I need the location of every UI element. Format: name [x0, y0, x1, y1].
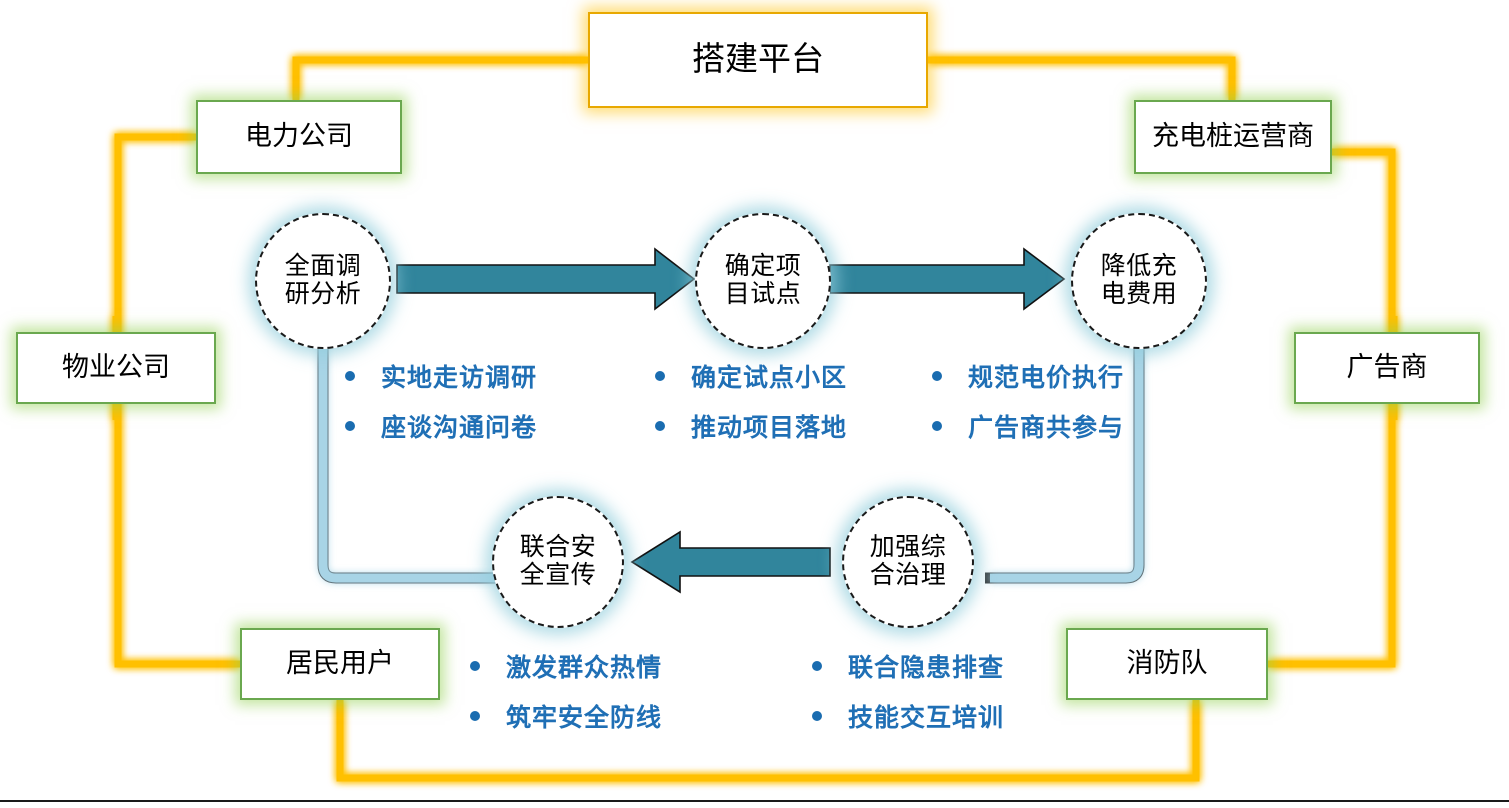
circle-step-5-label: 联合安全宣传 — [520, 534, 597, 590]
circle-step-1-label: 全面调研分析 — [285, 253, 362, 309]
node-platform[interactable]: 搭建平台 — [588, 12, 928, 108]
circle-step-1[interactable]: 全面调研分析 — [255, 213, 391, 349]
bullet-dot-icon — [345, 421, 355, 431]
bullet-item: 筑牢安全防线 — [470, 698, 662, 734]
bullet-item: 广告商共参与 — [932, 408, 1124, 444]
bullet-item: 确定试点小区 — [655, 358, 847, 394]
node-property-company[interactable]: 物业公司 — [16, 332, 216, 404]
node-residents-label: 居民用户 — [286, 649, 394, 679]
bullets-step-4: 联合隐患排查 技能交互培训 — [812, 648, 1004, 734]
circle-step-5[interactable]: 联合安全宣传 — [492, 496, 624, 628]
arrow-step4-to-step5 — [632, 532, 830, 592]
bullets-step-2: 确定试点小区 推动项目落地 — [655, 358, 847, 444]
circle-step-2[interactable]: 确定项目试点 — [695, 213, 831, 349]
node-advertiser[interactable]: 广告商 — [1294, 332, 1480, 404]
bullet-item: 规范电价执行 — [932, 358, 1124, 394]
node-fire-brigade[interactable]: 消防队 — [1066, 628, 1268, 700]
bullets-step-1: 实地走访调研 座谈沟通问卷 — [345, 358, 537, 444]
bullet-dot-icon — [470, 661, 480, 671]
bullet-dot-icon — [470, 711, 480, 721]
node-fire-brigade-label: 消防队 — [1127, 649, 1208, 679]
bullet-item: 推动项目落地 — [655, 408, 847, 444]
diagram-canvas: 搭建平台 电力公司 充电桩运营商 物业公司 广告商 居民用户 消防队 全面调研分… — [0, 0, 1509, 808]
bullet-dot-icon — [655, 371, 665, 381]
node-advertiser-label: 广告商 — [1347, 353, 1428, 383]
node-power-company[interactable]: 电力公司 — [196, 100, 402, 174]
bullet-dot-icon — [655, 421, 665, 431]
circle-step-3-label: 降低充电费用 — [1101, 253, 1178, 309]
bullet-dot-icon — [812, 711, 822, 721]
bullets-step-3: 规范电价执行 广告商共参与 — [932, 358, 1124, 444]
bullet-item: 座谈沟通问卷 — [345, 408, 537, 444]
node-residents[interactable]: 居民用户 — [240, 628, 440, 700]
bullet-item: 激发群众热情 — [470, 648, 662, 684]
node-charging-operator[interactable]: 充电桩运营商 — [1134, 100, 1332, 174]
bullet-dot-icon — [932, 371, 942, 381]
node-platform-label: 搭建平台 — [692, 42, 824, 78]
circle-step-3[interactable]: 降低充电费用 — [1071, 213, 1207, 349]
bullet-dot-icon — [932, 421, 942, 431]
bullets-step-5: 激发群众热情 筑牢安全防线 — [470, 648, 662, 734]
bullet-item: 联合隐患排查 — [812, 648, 1004, 684]
bullet-dot-icon — [345, 371, 355, 381]
bottom-rule — [0, 800, 1509, 802]
circle-step-2-label: 确定项目试点 — [725, 253, 802, 309]
bullet-item: 实地走访调研 — [345, 358, 537, 394]
circle-step-4[interactable]: 加强综合治理 — [842, 496, 974, 628]
arrow-step2-to-step3 — [830, 249, 1064, 309]
circle-step-4-label: 加强综合治理 — [870, 534, 947, 590]
bullet-dot-icon — [812, 661, 822, 671]
node-charging-operator-label: 充电桩运营商 — [1152, 122, 1314, 152]
node-property-company-label: 物业公司 — [62, 353, 170, 383]
arrow-step1-to-step2 — [397, 249, 694, 309]
node-power-company-label: 电力公司 — [245, 122, 353, 152]
bullet-item: 技能交互培训 — [812, 698, 1004, 734]
